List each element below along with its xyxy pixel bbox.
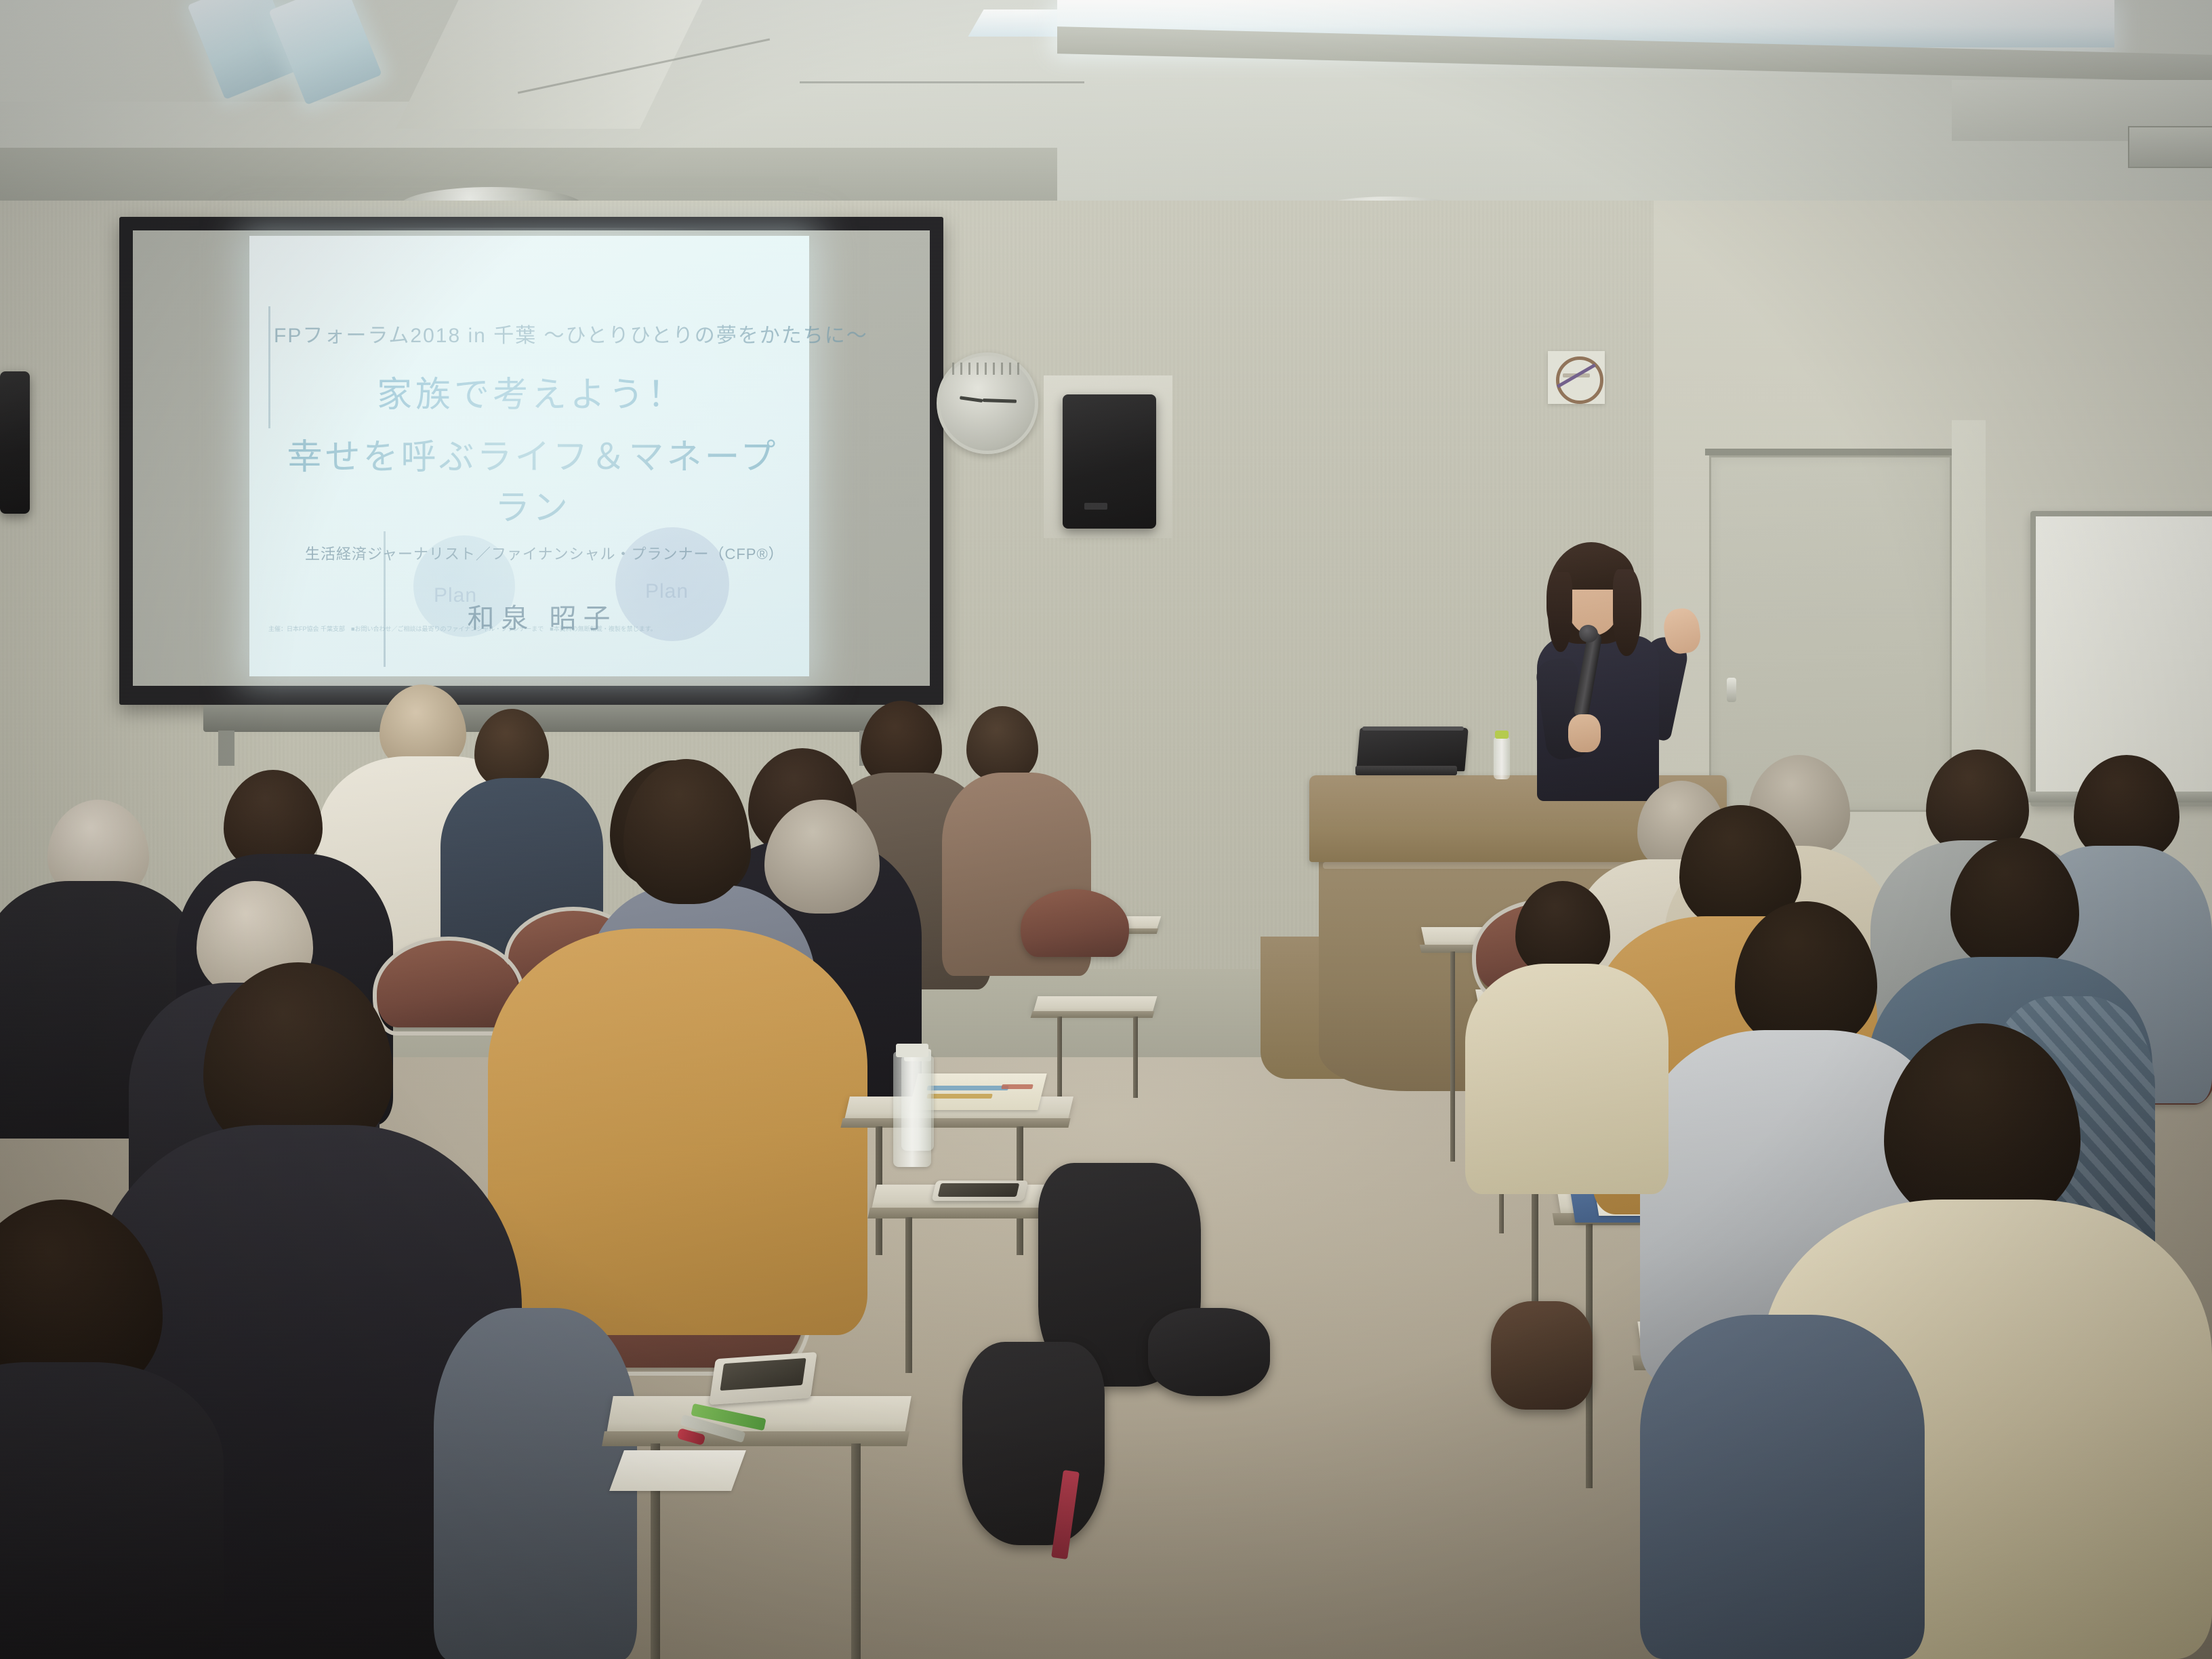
laptop <box>1356 728 1469 771</box>
bag <box>1491 1301 1593 1410</box>
pa-speaker-main <box>1063 394 1156 529</box>
attendee-torso <box>488 928 867 1335</box>
smartphone-screen <box>938 1183 1020 1197</box>
prohibition-circle-icon <box>1556 356 1603 404</box>
desk-leg <box>1133 1017 1138 1098</box>
slide-title-line2: 幸せを呼ぶライフ＆マネープラン <box>268 428 797 530</box>
presenter-hair <box>1613 569 1641 656</box>
wall-clock <box>937 352 1038 454</box>
slide-title-line1: 家族で考えよう！ <box>274 366 789 417</box>
speaker-grille <box>1084 503 1107 510</box>
desk-leg <box>1057 1017 1062 1098</box>
laptop-base <box>1355 766 1457 775</box>
entrance-door[interactable] <box>1709 455 1952 812</box>
clock-hour-hand <box>960 396 983 403</box>
water-bottle <box>893 1052 931 1167</box>
ceiling-vent <box>2128 126 2212 168</box>
ceiling <box>0 0 2212 224</box>
wall-panel <box>1952 420 1986 800</box>
door-frame <box>1705 449 1952 455</box>
projection-screen-roller <box>203 705 888 732</box>
slide-accent-line <box>268 306 270 428</box>
slide-presenter-role: 生活経済ジャーナリスト／ファイナンシャル・プランナー（CFP®） <box>305 542 779 564</box>
screen-bracket <box>218 731 234 766</box>
presenter-hand <box>1568 714 1601 752</box>
desk-leg <box>905 1217 912 1373</box>
attendee-torso <box>0 1362 224 1659</box>
attendee-torso <box>1465 964 1668 1194</box>
attendee-sleeve <box>434 1308 637 1659</box>
clock-minute-hand <box>983 398 1017 403</box>
presenter-hair <box>1548 572 1572 652</box>
desk-edge <box>602 1431 909 1446</box>
seminar-room-photo: FPフォーラム2018 in 千葉 ～ひとりひとりの夢をかたちに～ 家族で考えよ… <box>0 0 2212 1659</box>
laptop-hinge <box>1362 726 1464 731</box>
handout-line <box>1001 1084 1033 1089</box>
attendee-torso <box>1640 1315 1925 1659</box>
backpack-pocket <box>1148 1308 1270 1396</box>
desk-leg <box>1450 951 1455 1162</box>
door-handle[interactable] <box>1727 678 1736 702</box>
handout-line <box>926 1086 1009 1090</box>
handout-line <box>926 1094 993 1099</box>
desk-leg <box>851 1443 861 1659</box>
paper-sheet <box>609 1450 746 1491</box>
slide-header: FPフォーラム2018 in 千葉 ～ひとりひとりの夢をかたちに～ <box>274 319 789 348</box>
bottle-cap <box>896 1044 928 1057</box>
desk <box>1033 996 1158 1012</box>
pa-speaker-left <box>0 371 30 514</box>
clock-marks <box>952 363 1020 375</box>
ceiling-seam <box>800 81 1084 83</box>
water-bottle <box>1494 737 1510 779</box>
bottle-cap <box>1495 731 1509 739</box>
bag <box>962 1342 1105 1545</box>
presenter <box>1518 542 1708 800</box>
slide-footer-note: 主催：日本FP協会 千葉支部 ■お問い合わせ／ご相談は最寄りのファイナンシャル・… <box>268 625 770 633</box>
